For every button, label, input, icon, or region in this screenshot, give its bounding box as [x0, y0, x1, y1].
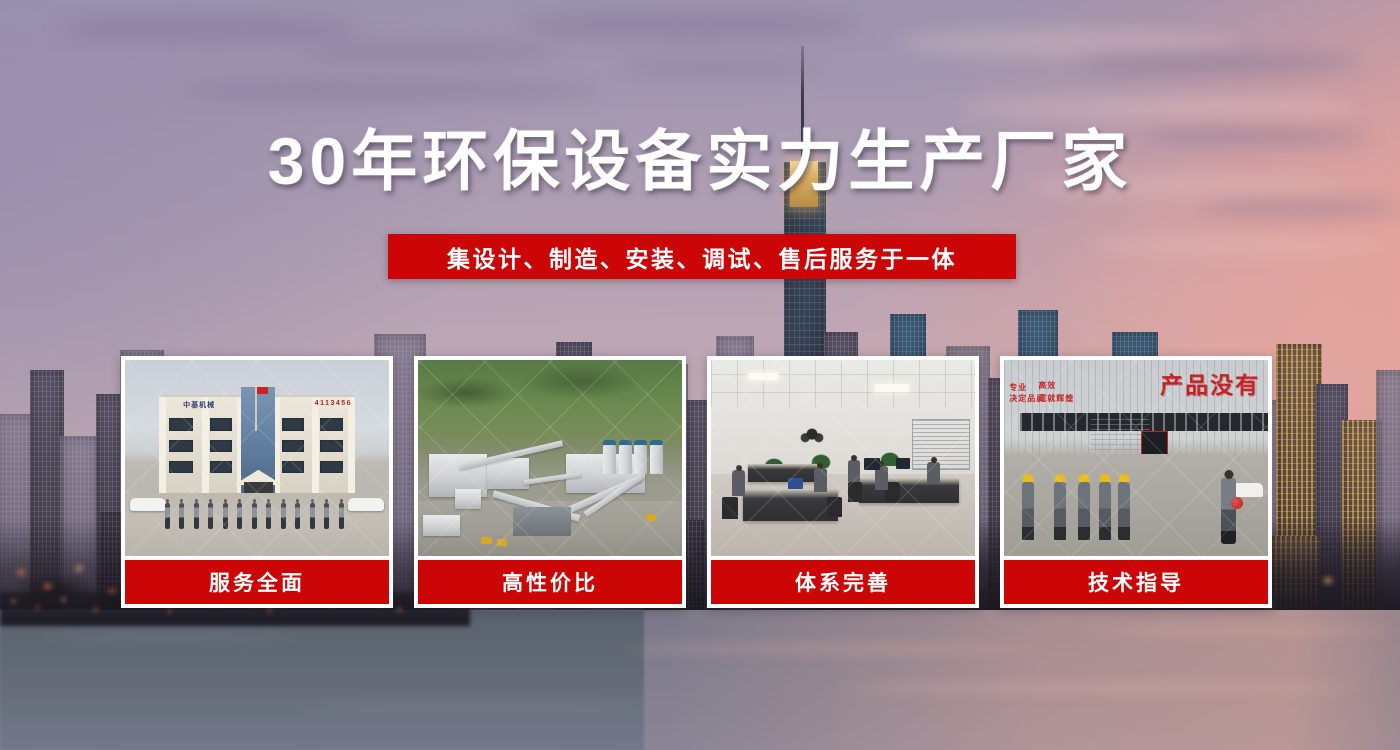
silo — [650, 444, 663, 474]
worker-with-hardhat — [1054, 482, 1066, 540]
office-employee — [814, 468, 827, 492]
factory-slogan-1: 专业 — [1009, 382, 1027, 393]
farmland-background — [418, 360, 682, 442]
office-employee — [848, 460, 860, 482]
storage-shed — [513, 507, 571, 536]
office-chair — [827, 497, 842, 517]
building-sign-text: 中基机械 — [183, 400, 215, 410]
excavator — [481, 537, 492, 544]
subtitle-banner: 集设计、制造、安装、调试、售后服务于一体 — [388, 234, 1016, 279]
office-employee — [927, 462, 940, 484]
office-employee — [732, 470, 745, 496]
factory-slogan-2: 高效 — [1038, 380, 1056, 391]
page-title: 30年环保设备实力生产厂家 — [0, 128, 1400, 194]
computer-monitor — [896, 458, 910, 469]
ceiling-grid — [711, 360, 975, 411]
office-desk — [743, 489, 838, 520]
staff-person — [223, 503, 228, 529]
staff-person — [339, 503, 344, 529]
excavator — [646, 514, 656, 521]
staff-person — [208, 503, 213, 529]
factory-wall-sign: 产品没有 — [1160, 366, 1260, 400]
building-phone-text: 4113456 — [315, 400, 352, 407]
factory-slogan-4: 成就辉煌 — [1038, 393, 1074, 404]
card-photo-factory-workers: 产品没有 专业 高效 决定品质 成就辉煌 — [1004, 360, 1268, 556]
card-photo-company-building: 中基机械 4113456 — [125, 360, 389, 556]
staff-person — [165, 503, 170, 529]
ceiling-light — [748, 373, 778, 380]
excavator — [497, 539, 507, 546]
staff-person — [324, 503, 329, 529]
staff-person — [310, 503, 315, 529]
feature-card-system[interactable]: 体系完善 — [707, 356, 979, 608]
parked-car — [348, 498, 384, 511]
river-water — [0, 610, 1400, 750]
computer-monitor — [864, 458, 880, 470]
staff-person — [266, 503, 271, 529]
card-photo-industrial-plant — [418, 360, 682, 556]
subtitle-text: 集设计、制造、安装、调试、售后服务于一体 — [447, 240, 957, 274]
card-caption-training: 技术指导 — [1004, 560, 1268, 604]
office-desk — [859, 478, 959, 503]
staff-person — [237, 503, 242, 529]
staff-person — [179, 503, 184, 529]
wall-decal — [795, 419, 829, 445]
staff-person — [194, 503, 199, 529]
flagpole — [255, 387, 257, 430]
worker-with-hardhat — [1099, 482, 1111, 540]
window-blinds — [912, 419, 970, 470]
feature-card-service[interactable]: 中基机械 4113456 — [121, 356, 393, 608]
plant-building — [487, 458, 529, 489]
parked-car — [130, 498, 166, 511]
card-caption-service: 服务全面 — [125, 560, 389, 604]
silo — [603, 444, 616, 474]
worker-with-hardhat — [1078, 482, 1090, 540]
plant-building — [455, 489, 481, 509]
card-caption-system: 体系完善 — [711, 560, 975, 604]
office-desk — [748, 464, 817, 482]
office-chair — [722, 497, 738, 519]
feature-card-row: 中基机械 4113456 — [121, 356, 1284, 608]
promotional-banner: 30年环保设备实力生产厂家 集设计、制造、安装、调试、售后服务于一体 — [0, 0, 1400, 750]
card-photo-office-interior — [711, 360, 975, 556]
supervisor — [1221, 478, 1236, 544]
laptop — [788, 478, 803, 489]
site-office — [423, 515, 460, 537]
office-chair — [848, 482, 862, 502]
red-hardhat — [1231, 497, 1243, 509]
staff-person — [295, 503, 300, 529]
feature-card-value[interactable]: 高性价比 — [414, 356, 686, 608]
worker-with-hardhat — [1118, 482, 1130, 540]
feature-card-training[interactable]: 产品没有 专业 高效 决定品质 成就辉煌 — [1000, 356, 1272, 608]
staff-person — [281, 503, 286, 529]
ceiling-light — [875, 384, 909, 392]
silo — [634, 444, 647, 474]
card-caption-value: 高性价比 — [418, 560, 682, 604]
worker-with-hardhat — [1022, 482, 1034, 540]
staff-person — [252, 503, 257, 529]
silo — [619, 444, 632, 474]
